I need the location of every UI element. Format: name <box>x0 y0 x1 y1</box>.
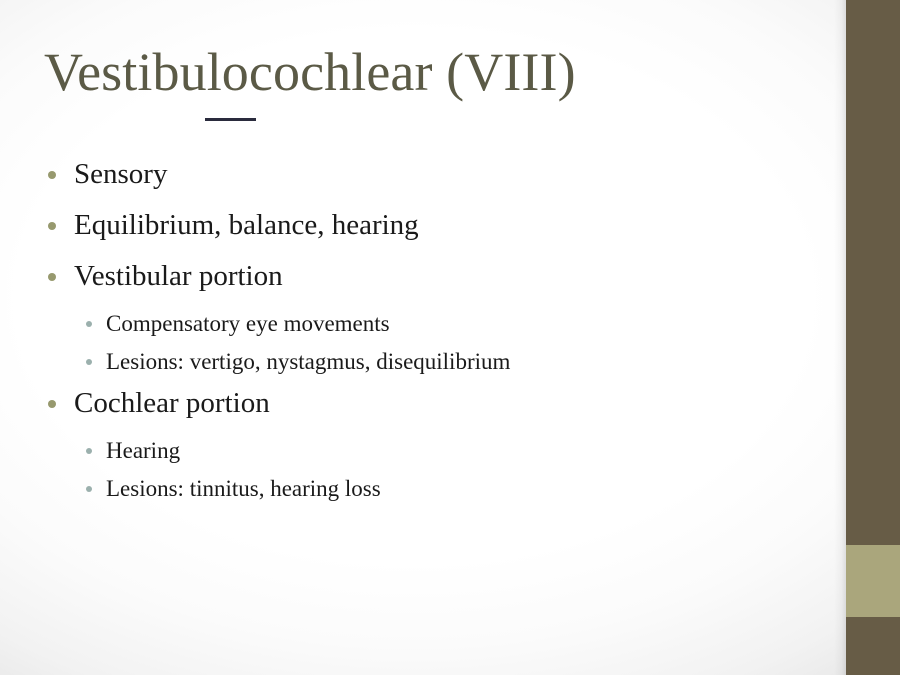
sidebar-band-accent <box>846 545 900 617</box>
list-item: Sensory <box>44 152 804 197</box>
list-item: Lesions: tinnitus, hearing loss <box>44 470 804 507</box>
list-item-label: Vestibular portion <box>74 254 283 299</box>
sub-bullet-dot-icon <box>86 448 92 454</box>
slide: Vestibulocochlear (VIII) Sensory Equilib… <box>0 0 900 675</box>
sidebar-shadow <box>834 0 846 675</box>
bullet-list: Sensory Equilibrium, balance, hearing Ve… <box>44 152 804 508</box>
list-item: Vestibular portion <box>44 254 804 299</box>
sidebar-band-bottom <box>846 617 900 675</box>
bullet-dot-icon <box>48 400 56 408</box>
title-underline-rule <box>205 118 256 121</box>
list-item: Equilibrium, balance, hearing <box>44 203 804 248</box>
decorative-sidebar <box>846 0 900 675</box>
bullet-dot-icon <box>48 222 56 230</box>
sub-bullet-dot-icon <box>86 359 92 365</box>
sub-bullet-dot-icon <box>86 486 92 492</box>
list-item-label: Compensatory eye movements <box>106 305 390 342</box>
list-item-label: Hearing <box>106 432 180 469</box>
list-item: Hearing <box>44 432 804 469</box>
list-item: Compensatory eye movements <box>44 305 804 342</box>
list-item-label: Lesions: tinnitus, hearing loss <box>106 470 381 507</box>
sidebar-band-top <box>846 0 900 545</box>
sub-bullet-dot-icon <box>86 321 92 327</box>
list-item: Lesions: vertigo, nystagmus, disequilibr… <box>44 343 804 380</box>
bullet-dot-icon <box>48 273 56 281</box>
slide-title: Vestibulocochlear (VIII) <box>44 44 576 101</box>
list-item-label: Sensory <box>74 152 167 197</box>
list-item-label: Equilibrium, balance, hearing <box>74 203 419 248</box>
list-item-label: Lesions: vertigo, nystagmus, disequilibr… <box>106 343 510 380</box>
list-item: Cochlear portion <box>44 381 804 426</box>
bullet-dot-icon <box>48 171 56 179</box>
list-item-label: Cochlear portion <box>74 381 270 426</box>
